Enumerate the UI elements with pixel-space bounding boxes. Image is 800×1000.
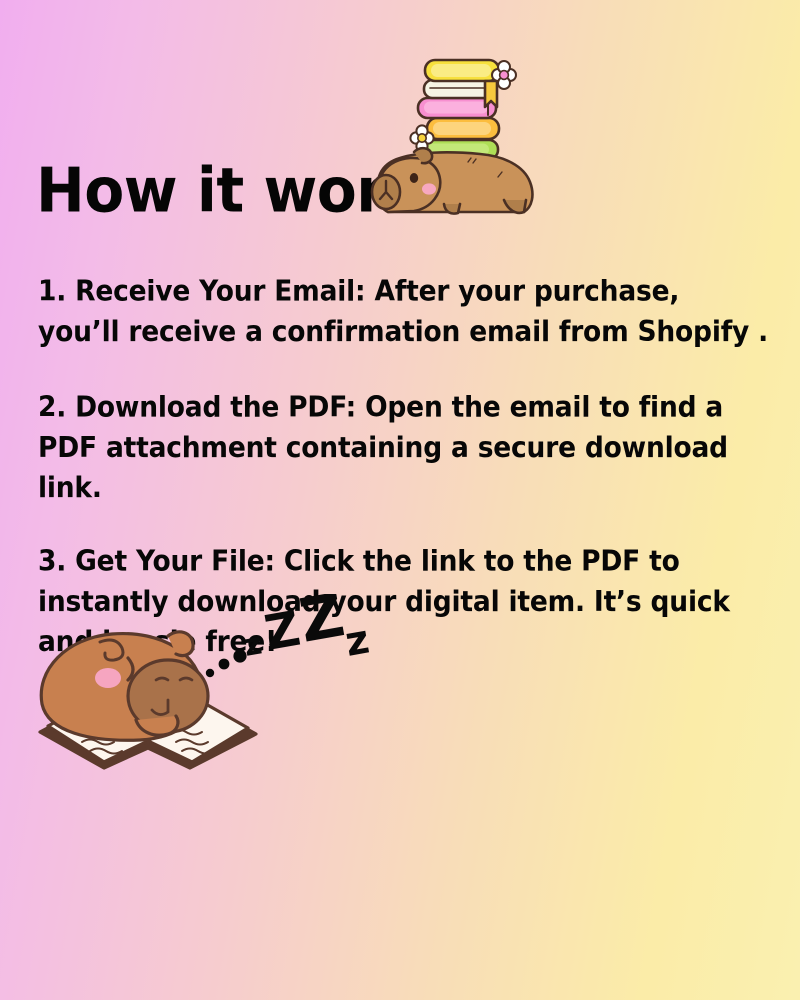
poster-canvas: How it works xyxy=(0,0,800,1000)
white-book-icon xyxy=(424,80,494,98)
capybara-body xyxy=(372,148,532,213)
zzz-sleep-indicator: z Z Z z xyxy=(196,594,416,686)
step-item: 2. Download the PDF: Open the email to f… xyxy=(38,388,768,509)
sleeping-capybara-body xyxy=(41,632,208,740)
z-glyph-small-2: z xyxy=(342,617,373,666)
yellow-book-icon xyxy=(425,60,499,81)
zzz-dots xyxy=(206,649,247,677)
step-item: 1. Receive Your Email: After your purcha… xyxy=(38,272,768,353)
capybara-with-books-illustration xyxy=(352,52,552,237)
orange-book-icon xyxy=(427,118,499,139)
